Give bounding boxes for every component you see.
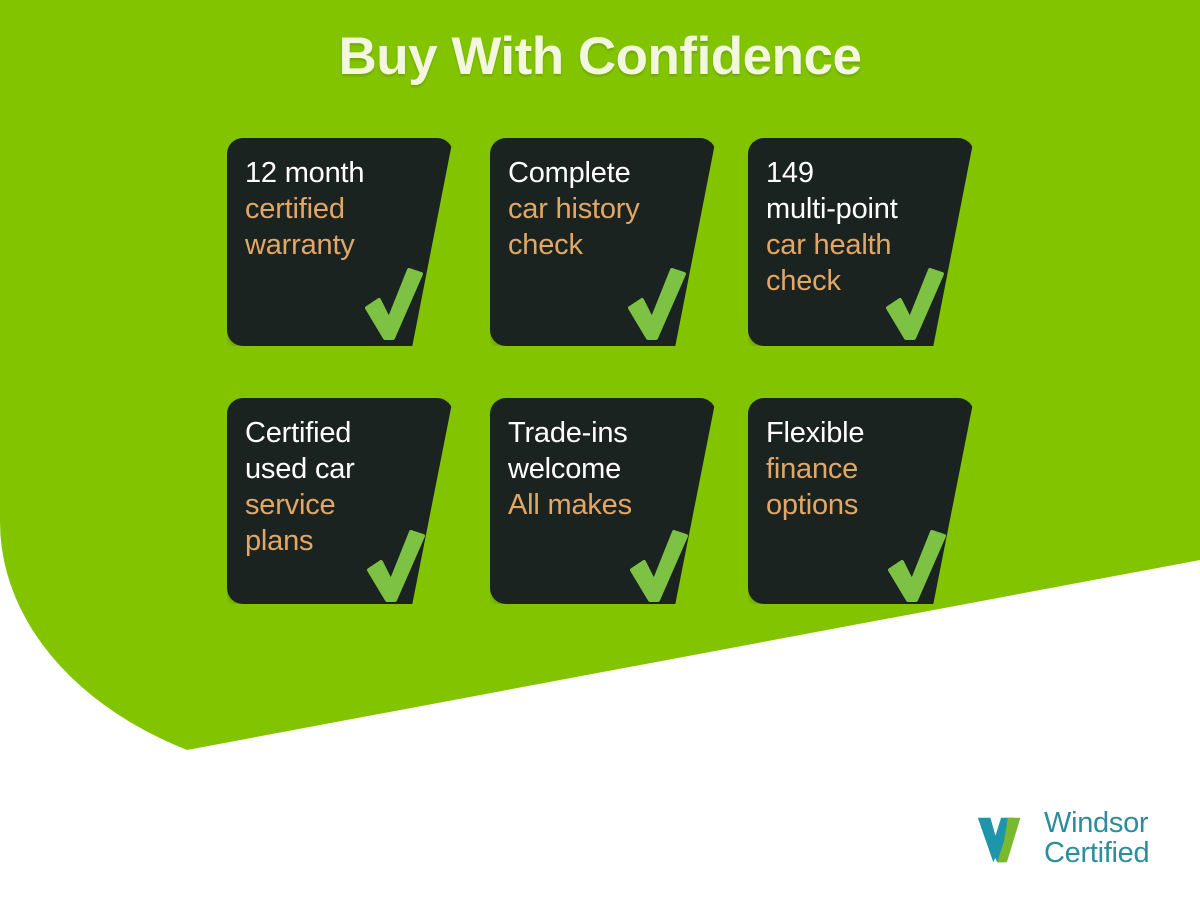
feature-card-row-1: 12 monthcertifiedwarrantyCompletecar his… bbox=[227, 138, 987, 398]
card-text-block: Certifiedused carserviceplans bbox=[245, 416, 419, 560]
green-check-icon bbox=[888, 530, 946, 602]
card-text-line: warranty bbox=[245, 228, 419, 264]
card-certified-used-car-service-plans[interactable]: Certifiedused carserviceplans bbox=[227, 398, 453, 604]
card-text-line: plans bbox=[245, 524, 419, 560]
card-text-line: Certified bbox=[245, 416, 419, 452]
card-text-line: Complete bbox=[508, 156, 682, 192]
card-text-line: All makes bbox=[508, 488, 682, 524]
logo-line-certified: Certified bbox=[1044, 839, 1149, 869]
card-text-line: 149 bbox=[766, 156, 940, 192]
feature-card-grid: 12 monthcertifiedwarrantyCompletecar his… bbox=[227, 138, 987, 658]
green-check-icon bbox=[630, 530, 688, 602]
card-text-line: service bbox=[245, 488, 419, 524]
card-text-line: Flexible bbox=[766, 416, 940, 452]
slide-canvas: Buy With Confidence 12 monthcertifiedwar… bbox=[0, 0, 1200, 900]
card-text-line: options bbox=[766, 488, 940, 524]
card-text-line: multi-point bbox=[766, 192, 940, 228]
windsor-certified-logo[interactable]: Windsor Certified bbox=[972, 808, 1149, 870]
card-text-line: car history bbox=[508, 192, 682, 228]
card-text-line: check bbox=[766, 264, 940, 300]
feature-card-row-2: Certifiedused carserviceplansTrade-inswe… bbox=[227, 398, 987, 658]
card-trade-ins-welcome-all-makes[interactable]: Trade-inswelcomeAll makes bbox=[490, 398, 716, 604]
card-149-multi-point-car-health-check[interactable]: 149multi-pointcar healthcheck bbox=[748, 138, 974, 346]
logo-wordmark: Windsor Certified bbox=[1044, 809, 1149, 868]
windsor-w-icon bbox=[972, 808, 1034, 870]
logo-line-windsor: Windsor bbox=[1044, 809, 1149, 839]
card-text-line: certified bbox=[245, 192, 419, 228]
card-text-block: Flexiblefinanceoptions bbox=[766, 416, 940, 524]
page-title: Buy With Confidence bbox=[0, 26, 1200, 87]
card-text-line: welcome bbox=[508, 452, 682, 488]
green-check-icon bbox=[365, 268, 423, 340]
card-text-line: 12 month bbox=[245, 156, 419, 192]
card-text-block: 12 monthcertifiedwarranty bbox=[245, 156, 419, 264]
card-text-line: used car bbox=[245, 452, 419, 488]
card-complete-car-history-check[interactable]: Completecar historycheck bbox=[490, 138, 716, 346]
card-text-block: Trade-inswelcomeAll makes bbox=[508, 416, 682, 524]
card-text-line: Trade-ins bbox=[508, 416, 682, 452]
card-12-month-certified-warranty[interactable]: 12 monthcertifiedwarranty bbox=[227, 138, 453, 346]
card-text-block: 149multi-pointcar healthcheck bbox=[766, 156, 940, 300]
card-text-line: check bbox=[508, 228, 682, 264]
card-text-line: car health bbox=[766, 228, 940, 264]
card-flexible-finance-options[interactable]: Flexiblefinanceoptions bbox=[748, 398, 974, 604]
card-text-line: finance bbox=[766, 452, 940, 488]
green-check-icon bbox=[628, 268, 686, 340]
card-text-block: Completecar historycheck bbox=[508, 156, 682, 264]
